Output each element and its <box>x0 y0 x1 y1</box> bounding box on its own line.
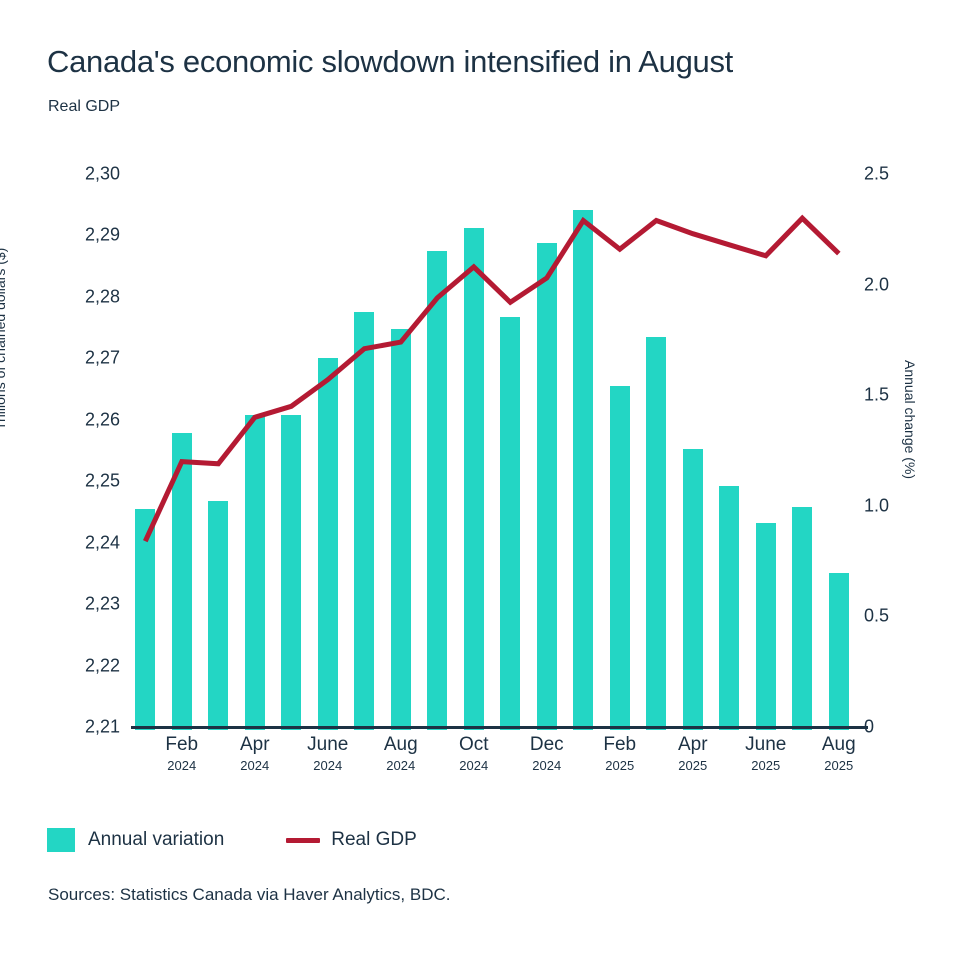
x-axis-tick-year: 2024 <box>307 757 348 775</box>
x-axis-tick: June2025 <box>745 733 786 775</box>
page-title: Canada's economic slowdown intensified i… <box>47 44 733 80</box>
y-axis-left-tick-label: 2,29 <box>85 225 120 246</box>
legend-label-annual-variation: Annual variation <box>88 829 224 851</box>
legend-label-real-gdp: Real GDP <box>331 829 417 851</box>
bar-swatch-icon <box>47 828 75 852</box>
x-axis-tick-year: 2025 <box>603 757 636 775</box>
x-axis-tick-month: Aug <box>822 733 856 757</box>
x-axis-tick: Feb2025 <box>603 733 636 775</box>
x-axis-tick: Oct2024 <box>459 733 489 775</box>
y-axis-left-tick-label: 2,25 <box>85 471 120 492</box>
x-axis-tick-month: June <box>745 733 786 757</box>
line-swatch-icon <box>286 838 320 843</box>
x-axis-tick-month: Feb <box>165 733 198 757</box>
x-axis-tick: Aug2024 <box>384 733 418 775</box>
x-axis-tick-month: Oct <box>459 733 489 757</box>
x-axis-tick-year: 2024 <box>384 757 418 775</box>
x-axis-tick-year: 2024 <box>530 757 564 775</box>
legend-item-annual-variation: Annual variation <box>47 828 224 852</box>
y-axis-right-tick-label: 1.0 <box>864 495 889 516</box>
y-axis-right-ticks: 2.52.01.51.00.50 <box>858 0 918 960</box>
y-axis-left-tick-label: 2,27 <box>85 348 120 369</box>
x-axis-tick-year: 2025 <box>678 757 708 775</box>
x-axis-tick: June2024 <box>307 733 348 775</box>
x-axis-tick-month: Feb <box>603 733 636 757</box>
y-axis-right-tick-label: 2.0 <box>864 274 889 295</box>
x-axis-line <box>131 726 868 729</box>
x-axis-tick: Feb2024 <box>165 733 198 775</box>
sources-note: Sources: Statistics Canada via Haver Ana… <box>48 885 451 905</box>
chart-legend: Annual variation Real GDP <box>47 828 479 852</box>
y-axis-right-tick-label: 2.5 <box>864 164 889 185</box>
legend-item-real-gdp: Real GDP <box>286 829 417 851</box>
chart-page: Canada's economic slowdown intensified i… <box>0 0 960 960</box>
y-axis-left-tick-label: 2,26 <box>85 409 120 430</box>
x-axis-tick-month: Dec <box>530 733 564 757</box>
x-axis-tick-year: 2024 <box>165 757 198 775</box>
x-axis-tick-month: Apr <box>240 733 270 757</box>
line-series <box>131 160 861 730</box>
line-path <box>145 218 839 541</box>
x-axis-tick: Dec2024 <box>530 733 564 775</box>
x-axis-tick: Aug2025 <box>822 733 856 775</box>
x-axis-tick-year: 2024 <box>240 757 270 775</box>
x-axis-tick-month: Apr <box>678 733 708 757</box>
y-axis-left-tick-label: 2,23 <box>85 594 120 615</box>
x-axis-tick: Apr2024 <box>240 733 270 775</box>
x-axis-tick-year: 2025 <box>822 757 856 775</box>
x-axis-ticks: Feb2024Apr2024June2024Aug2024Oct2024Dec2… <box>0 733 960 793</box>
x-axis-tick-year: 2025 <box>745 757 786 775</box>
y-axis-left-ticks: 2,302,292,282,272,262,252,242,232,222,21 <box>0 0 120 960</box>
x-axis-tick-month: Aug <box>384 733 418 757</box>
y-axis-right-tick-label: 0.5 <box>864 606 889 627</box>
y-axis-left-tick-label: 2,22 <box>85 655 120 676</box>
x-axis-tick: Apr2025 <box>678 733 708 775</box>
plot-area <box>131 160 861 730</box>
y-axis-left-tick-label: 2,30 <box>85 164 120 185</box>
x-axis-tick-year: 2024 <box>459 757 489 775</box>
y-axis-left-tick-label: 2,24 <box>85 532 120 553</box>
x-axis-tick-month: June <box>307 733 348 757</box>
y-axis-left-tick-label: 2,28 <box>85 286 120 307</box>
y-axis-right-tick-label: 1.5 <box>864 385 889 406</box>
